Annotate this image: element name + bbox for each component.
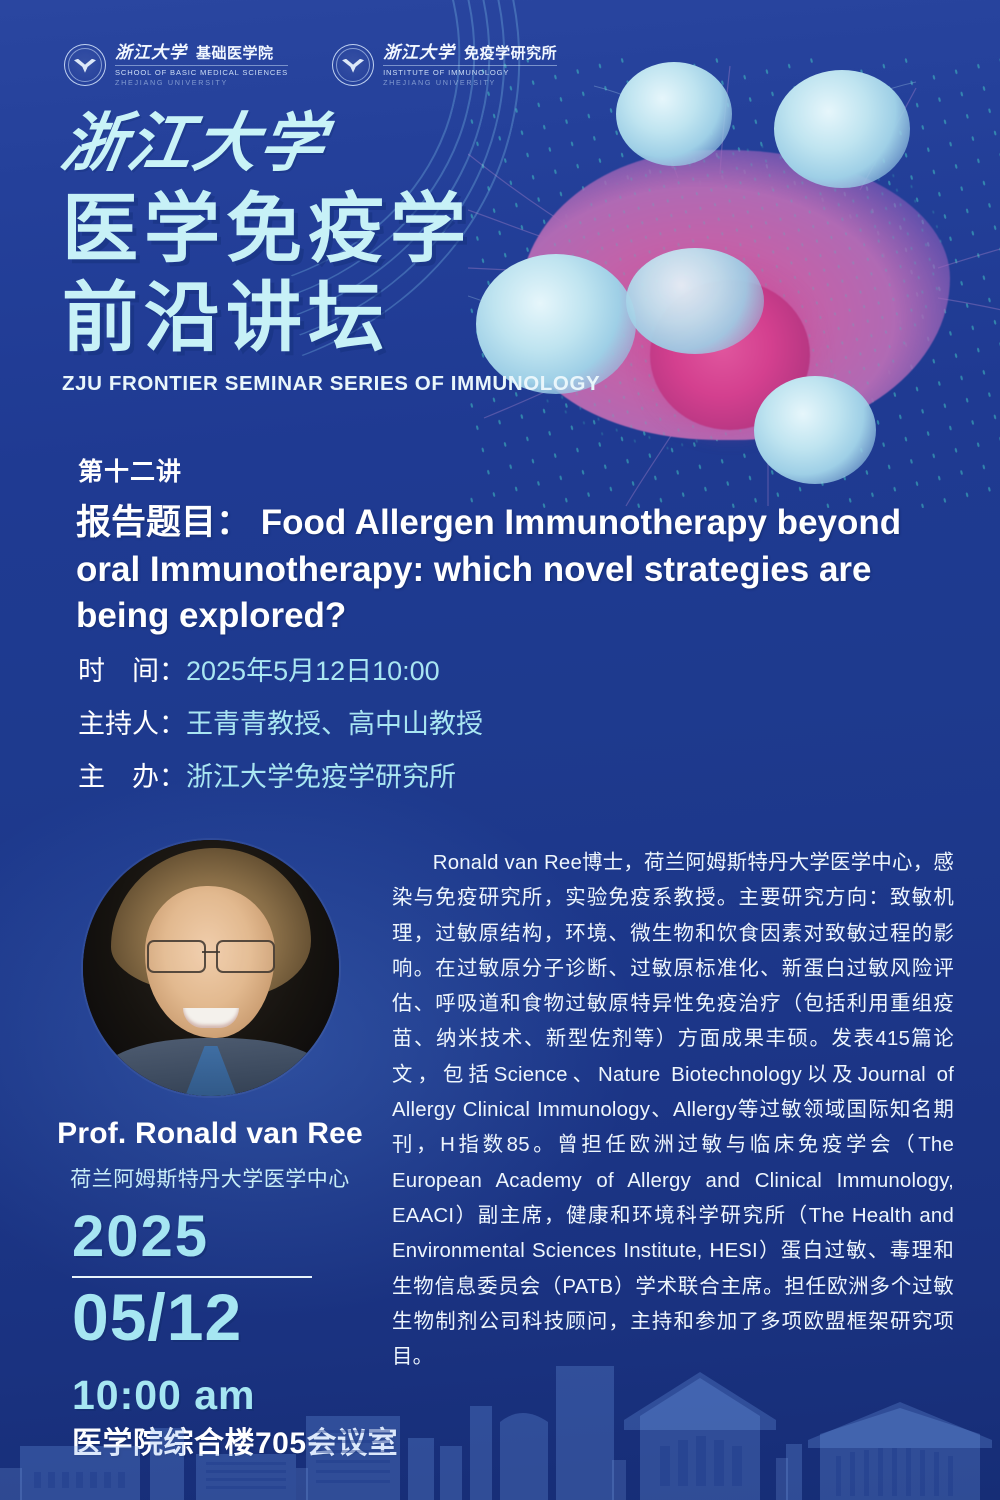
- series-title-line-2: 前沿讲坛: [62, 275, 600, 360]
- meta-label-host: 主持人：: [78, 711, 186, 738]
- meta-row-organizer: 主 办： 浙江大学免疫学研究所: [78, 764, 483, 791]
- talk-title: 报告题目： Food Allergen Immunotherapy beyond…: [76, 500, 916, 640]
- logo-school-of-basic-medical-sciences: 浙江大学 基础医学院 SCHOOL OF BASIC MEDICAL SCIEN…: [64, 44, 288, 86]
- series-subtitle-english: ZJU FRONTIER SEMINAR SERIES OF IMMUNOLOG…: [62, 372, 600, 396]
- logo-en-university: ZHEJIANG UNIVERSITY: [383, 79, 557, 86]
- logo-cn-unit: 基础医学院: [196, 46, 274, 61]
- logo-en-university: ZHEJIANG UNIVERSITY: [115, 79, 288, 86]
- logo-cn-university: 浙江大学: [115, 44, 187, 61]
- speaker-name: Prof. Ronald van Ree: [0, 1117, 420, 1151]
- event-month-day: 05/12: [72, 1284, 312, 1350]
- meta-value-organizer: 浙江大学免疫学研究所: [186, 764, 456, 791]
- seminar-poster: 浙江大学 基础医学院 SCHOOL OF BASIC MEDICAL SCIEN…: [0, 0, 1000, 1500]
- campus-skyline-silhouette: [0, 1350, 1000, 1500]
- glasses-icon: [145, 940, 277, 970]
- speaker-organization: 荷兰阿姆斯特丹大学医学中心: [0, 1163, 420, 1193]
- speaker-bio: Ronald van Ree博士，荷兰阿姆斯特丹大学医学中心，感染与免疫研究所，…: [392, 846, 954, 1375]
- meta-label-time: 时 间：: [78, 658, 186, 685]
- logo-cn-university: 浙江大学: [383, 44, 455, 61]
- t-cell: [774, 70, 910, 188]
- brush-university-title: 浙江大学: [57, 112, 605, 176]
- meta-value-host: 王青青教授、高中山教授: [186, 711, 483, 738]
- meta-row-time: 时 间： 2025年5月12日10:00: [78, 658, 483, 685]
- logo-en-unit: SCHOOL OF BASIC MEDICAL SCIENCES: [115, 65, 288, 77]
- event-meta-list: 时 间： 2025年5月12日10:00 主持人： 王青青教授、高中山教授 主 …: [78, 658, 483, 817]
- zju-seal-icon: [332, 44, 374, 86]
- zju-seal-icon: [64, 44, 106, 86]
- meta-value-time: 2025年5月12日10:00: [186, 658, 440, 685]
- logo-en-unit: INSTITUTE OF IMMUNOLOGY: [383, 65, 557, 77]
- event-year: 2025: [72, 1208, 312, 1266]
- t-cell: [754, 376, 876, 484]
- date-divider: [72, 1276, 312, 1278]
- logo-cn-unit: 免疫学研究所: [464, 46, 557, 61]
- t-cell: [626, 248, 764, 354]
- meta-label-organizer: 主 办：: [78, 764, 186, 791]
- logo-institute-of-immunology: 浙江大学 免疫学研究所 INSTITUTE OF IMMUNOLOGY ZHEJ…: [332, 44, 557, 86]
- poster-hero-title: 浙江大学 医学免疫学 前沿讲坛 ZJU FRONTIER SEMINAR SER…: [62, 112, 600, 396]
- speaker-portrait: [83, 840, 339, 1096]
- institution-logo-bar: 浙江大学 基础医学院 SCHOOL OF BASIC MEDICAL SCIEN…: [64, 44, 557, 86]
- series-title-line-1: 医学免疫学: [62, 186, 600, 271]
- meta-row-host: 主持人： 王青青教授、高中山教授: [78, 711, 483, 738]
- t-cell: [616, 62, 732, 166]
- lecture-number: 第十二讲: [78, 452, 182, 488]
